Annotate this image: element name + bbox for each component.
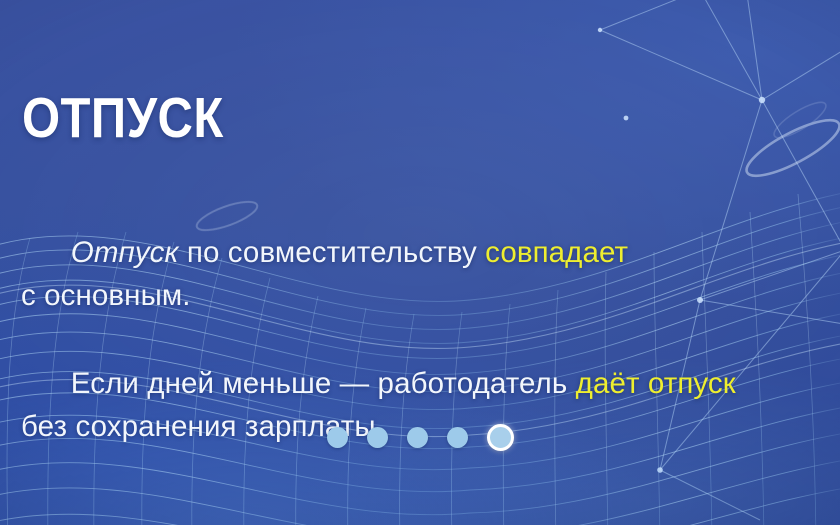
paragraph-2-segment-1: Если дней меньше — работодатель: [71, 367, 576, 400]
paragraph-2-highlight: даёт отпуск: [576, 367, 736, 400]
pagination-dot-4[interactable]: [447, 427, 468, 448]
paragraph-1-highlight: совпадает: [485, 236, 628, 269]
pagination-dot-5-active[interactable]: [487, 424, 514, 451]
paragraph-1-segment-2: по совместительству: [179, 236, 486, 269]
pagination-dots[interactable]: [0, 424, 840, 451]
paragraph-1-segment-4: с основным.: [21, 279, 191, 312]
paragraph-text-2: Если дней меньше — работодатель даёт отп…: [21, 319, 736, 491]
pagination-dot-2[interactable]: [367, 427, 388, 448]
slide-canvas: ОТПУСК Отпуск по совместительству совпад…: [0, 0, 840, 525]
pagination-dot-1[interactable]: [327, 427, 348, 448]
pagination-dot-3[interactable]: [407, 427, 428, 448]
page-title: ОТПУСК: [22, 90, 224, 147]
paragraph-1-segment-1: Отпуск: [71, 236, 179, 269]
